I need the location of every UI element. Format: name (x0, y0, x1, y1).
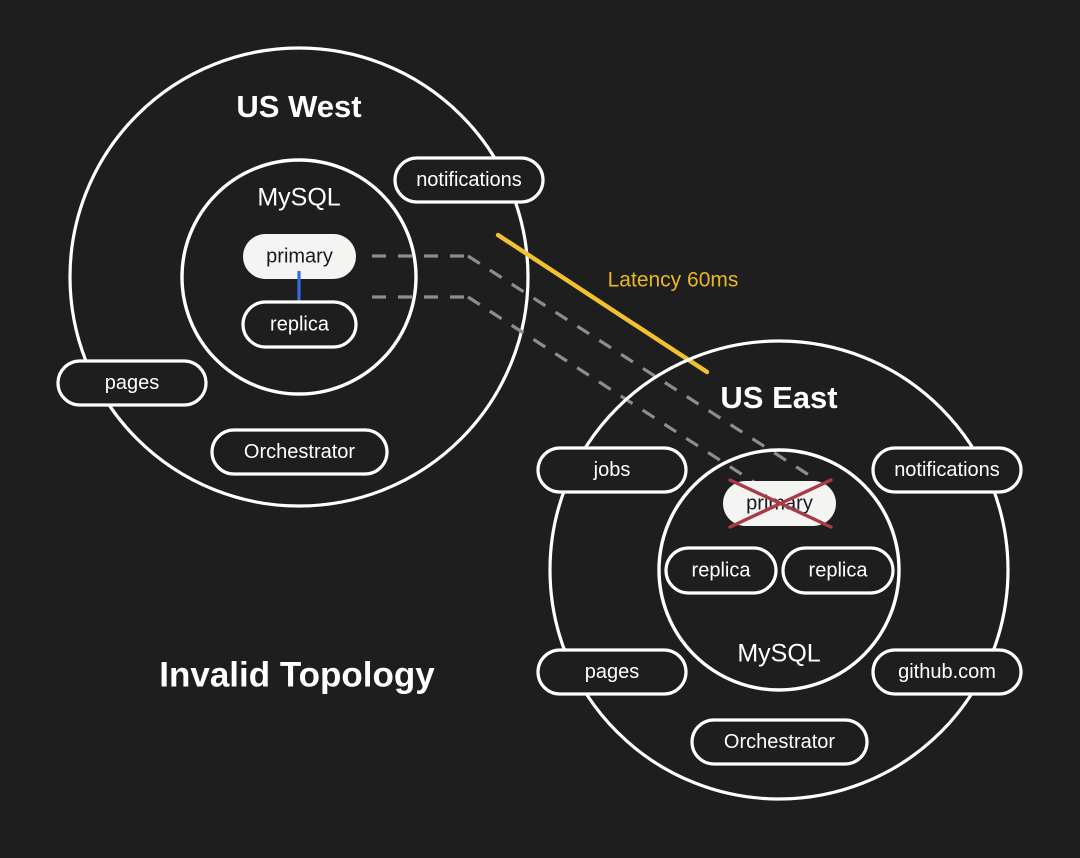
service-useast-pages-label: pages (585, 661, 640, 683)
service-uswest-pages[interactable]: pages (58, 361, 206, 405)
node-useast-replica-1[interactable]: replica (666, 548, 776, 593)
diagram-canvas: US West MySQL primary replica notificati… (0, 0, 1080, 858)
service-uswest-orchestrator-label: Orchestrator (244, 441, 355, 463)
region-us-east[interactable]: US East MySQL primary replica replica jo… (538, 341, 1021, 799)
verdict-label: Invalid Topology (159, 655, 435, 694)
node-useast-replica-2-label: replica (809, 559, 869, 581)
latency-link-line (498, 235, 707, 372)
node-useast-replica-2[interactable]: replica (783, 548, 893, 593)
latency-link-label: Latency 60ms (608, 269, 739, 292)
db-title-us-east: MySQL (737, 640, 820, 668)
service-uswest-pages-label: pages (105, 372, 160, 394)
service-useast-notifications-label: notifications (894, 459, 1000, 481)
service-useast-pages[interactable]: pages (538, 650, 686, 694)
service-useast-github[interactable]: github.com (873, 650, 1021, 694)
service-useast-jobs[interactable]: jobs (538, 448, 686, 492)
service-useast-github-label: github.com (898, 661, 996, 683)
service-useast-orchestrator-label: Orchestrator (724, 731, 835, 753)
service-useast-notifications[interactable]: notifications (873, 448, 1021, 492)
region-title-us-east: US East (720, 380, 837, 415)
region-title-us-west: US West (236, 89, 361, 124)
service-uswest-notifications-label: notifications (416, 169, 522, 191)
node-useast-replica-1-label: replica (692, 559, 752, 581)
service-uswest-notifications[interactable]: notifications (395, 158, 543, 202)
db-title-us-west: MySQL (257, 184, 340, 212)
topology-diagram: US West MySQL primary replica notificati… (0, 0, 1080, 858)
node-uswest-replica-1-label: replica (270, 313, 330, 335)
service-useast-orchestrator[interactable]: Orchestrator (692, 720, 867, 764)
service-useast-jobs-label: jobs (593, 459, 631, 481)
node-uswest-primary-label: primary (266, 245, 333, 267)
service-uswest-orchestrator[interactable]: Orchestrator (212, 430, 387, 474)
region-us-west[interactable]: US West MySQL primary replica notificati… (58, 48, 543, 506)
node-uswest-replica-1[interactable]: replica (243, 302, 356, 347)
node-useast-primary[interactable]: primary (723, 480, 836, 527)
